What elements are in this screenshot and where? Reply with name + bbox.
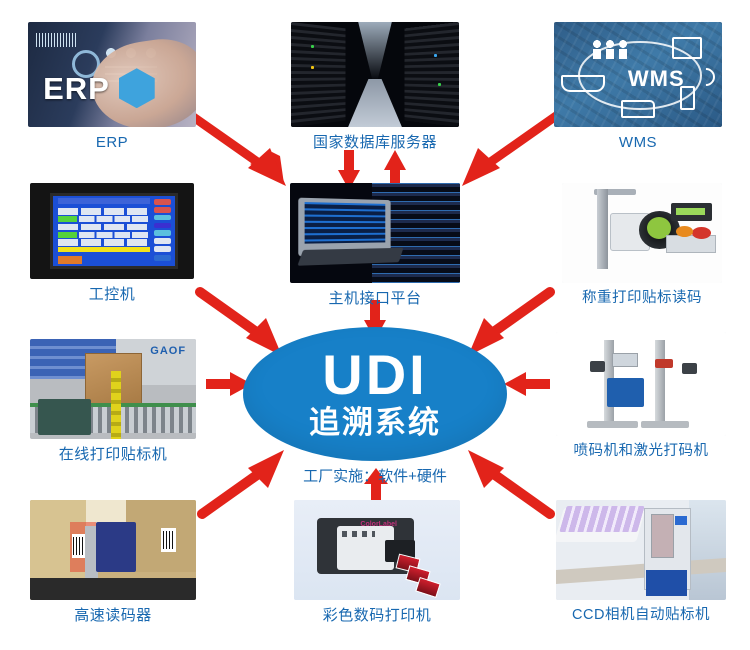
conveyor-belt [30, 578, 196, 600]
printer-brand-text: ColorLabel [360, 521, 397, 528]
host-console-photo [290, 183, 460, 283]
colour-printer-thumbnail: ColorLabel [294, 500, 460, 600]
colour-printer-photo: ColorLabel [294, 500, 460, 600]
ccd-labeller-photo [556, 500, 726, 600]
lab-background [689, 500, 726, 600]
online-labeller-thumbnail: GAOF [30, 339, 196, 439]
barcode-scanner-device [96, 522, 136, 572]
truck-icon [621, 100, 655, 118]
node-label-industrial-pc: 工控机 [89, 285, 136, 304]
labelling-machine [38, 399, 91, 435]
monitor-icon [672, 37, 702, 59]
cabinet-base [646, 570, 687, 596]
udi-title: UDI [322, 347, 427, 403]
coder-thumbnail [556, 332, 726, 436]
conveyor-labeller-photo: GAOF [30, 339, 196, 439]
cabinet-window [651, 514, 673, 558]
node-high-speed-reader[interactable]: 高速读码器 [30, 500, 196, 625]
node-ccd-auto-labeller[interactable]: CCD相机自动贴标机 [556, 500, 726, 625]
node-label-ccd-auto-labeller: CCD相机自动贴标机 [572, 606, 710, 625]
console-screen [304, 203, 385, 244]
rack-console-laptop [298, 198, 391, 257]
coder-hmi-panel [612, 353, 638, 367]
barcode-reader-photo [30, 500, 196, 600]
node-weigh-print-label-read[interactable]: 称重打印贴标读码 [562, 183, 722, 308]
data-center-photo [291, 22, 459, 127]
node-host-interface-platform[interactable]: 主机接口平台 [290, 183, 460, 308]
weigh-label-photo [562, 183, 722, 283]
node-industrial-pc[interactable]: 工控机 [30, 183, 194, 304]
produce-item-orange [676, 226, 694, 237]
test-tubes [559, 506, 645, 532]
node-label-erp: ERP [96, 133, 128, 152]
database-thumbnail [291, 22, 459, 127]
cabinet-hmi [675, 516, 687, 525]
safety-fence [111, 371, 121, 439]
arrow-coder-to-center [504, 372, 550, 396]
arrow-erp-to-database [188, 112, 296, 190]
node-erp[interactable]: ERP ERP [28, 22, 196, 152]
server-rack-right [404, 22, 459, 127]
node-label-host-interface-platform: 主机接口平台 [328, 289, 421, 308]
wms-photo-text: WMS [628, 66, 685, 92]
node-colour-digital-printer[interactable]: ColorLabel 彩色数码打印机 [294, 500, 460, 625]
inkjet-cabinet [607, 378, 644, 407]
ccd-thumbnail [556, 500, 726, 600]
hmi-title-bar [58, 198, 151, 204]
hmi-action-button [58, 256, 82, 264]
host-platform-thumbnail [290, 183, 460, 283]
scale-display [671, 203, 713, 221]
ceiling-lights [358, 22, 392, 80]
node-label-online-print-labeller: 在线打印贴标机 [59, 445, 168, 464]
weigh-thumbnail [562, 183, 722, 283]
ship-icon [561, 75, 605, 92]
people-icon [591, 39, 629, 59]
server-rack-left [291, 22, 346, 127]
wms-thumbnail: WMS [554, 22, 722, 127]
node-label-weigh-print-label-read: 称重打印贴标读码 [582, 289, 702, 308]
node-label-colour-digital-printer: 彩色数码打印机 [323, 606, 432, 625]
node-label-high-speed-reader: 高速读码器 [74, 606, 152, 625]
node-label-inkjet-laser-coder: 喷码机和激光打码机 [574, 442, 709, 461]
udi-subtitle: 追溯系统 [309, 405, 441, 441]
weighing-scale [666, 235, 716, 253]
coder-photo [556, 332, 726, 436]
udi-traceability-diagram: UDI 追溯系统 工厂实施：软件+硬件 ERP ERP [0, 0, 750, 650]
node-inkjet-laser-coder[interactable]: 喷码机和激光打码机 [556, 332, 726, 461]
erp-photo-text: ERP [43, 71, 110, 107]
barcode-icon [36, 33, 78, 47]
erp-thumbnail: ERP [28, 22, 196, 127]
erp-photo: ERP [28, 22, 196, 127]
print-head [590, 361, 605, 371]
laser-source [655, 359, 674, 368]
udi-center-note: 工厂实施：软件+硬件 [243, 465, 507, 486]
printed-label-3 [415, 577, 440, 598]
hmi-panel-photo [30, 183, 194, 279]
reader-thumbnail [30, 500, 196, 600]
industrial-pc-thumbnail [30, 183, 194, 279]
node-online-print-labeller[interactable]: GAOF 在线打印贴标机 [30, 339, 196, 464]
wms-photo: WMS [554, 22, 722, 127]
node-national-database-server[interactable]: 国家数据库服务器 [291, 22, 459, 152]
gaof-logo: GAOF [150, 345, 186, 357]
produce-item-red [692, 227, 711, 239]
laser-head [682, 363, 697, 373]
aisle-floor [348, 79, 402, 127]
hmi-screen [50, 193, 178, 270]
machine-post [597, 189, 608, 269]
node-label-national-database-server: 国家数据库服务器 [313, 133, 437, 152]
udi-center-node[interactable]: UDI 追溯系统 [243, 327, 507, 461]
hmi-status-strip [58, 247, 151, 253]
barcode-label-right [161, 528, 176, 552]
node-label-wms: WMS [619, 133, 657, 152]
arrow-wms-to-database [452, 112, 560, 190]
node-wms[interactable]: WMS WMS [554, 22, 722, 152]
printer-buttons [342, 531, 375, 537]
